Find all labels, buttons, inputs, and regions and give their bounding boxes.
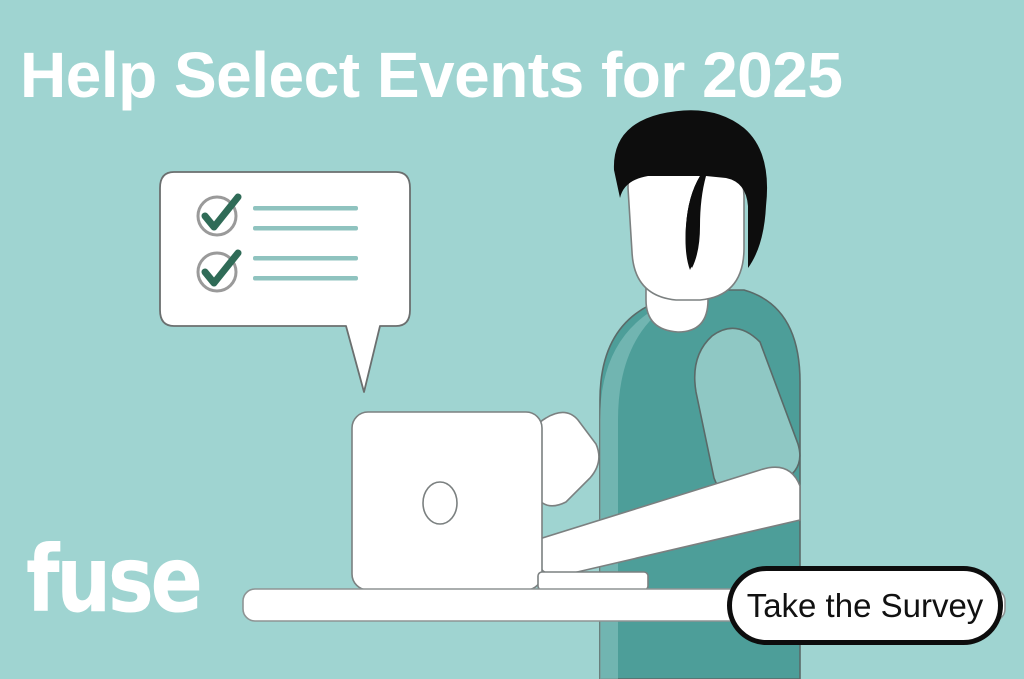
page-title: Help Select Events for 2025 — [20, 43, 1010, 108]
survey-banner: Help Select Events for 2025 fuse Take th… — [0, 0, 1024, 679]
placeholder-line — [253, 206, 358, 211]
placeholder-line — [253, 276, 358, 281]
laptop-base — [538, 572, 648, 590]
fuse-logo: fuse — [26, 534, 200, 626]
laptop-logo — [423, 482, 457, 524]
take-the-survey-label: Take the Survey — [747, 587, 984, 625]
placeholder-line — [253, 226, 358, 231]
take-the-survey-button[interactable]: Take the Survey — [727, 566, 1003, 645]
placeholder-line — [253, 256, 358, 261]
